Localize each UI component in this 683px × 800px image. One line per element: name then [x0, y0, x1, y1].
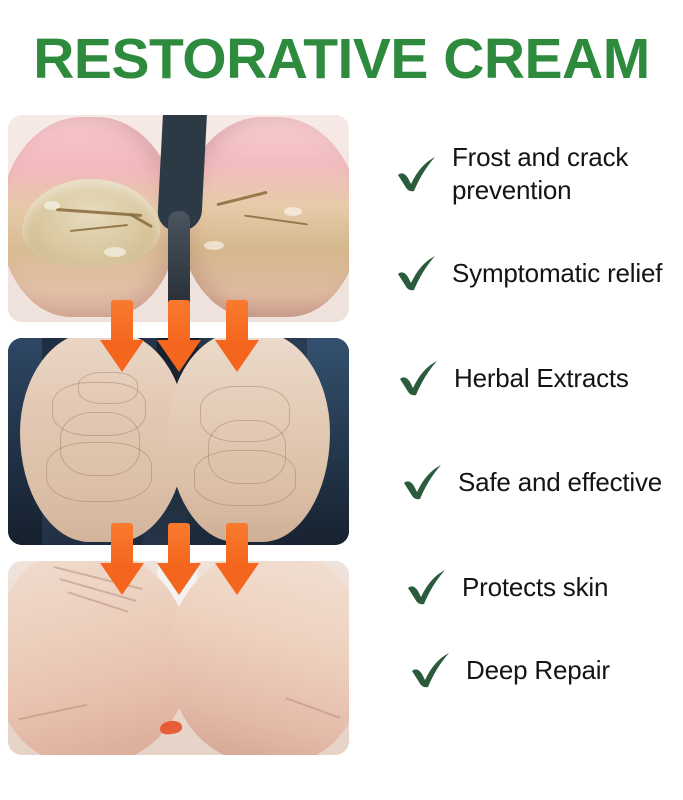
down-arrow-icon [100, 300, 144, 372]
benefits-list: Frost and crack prevention Symptomatic r… [386, 128, 683, 700]
down-arrow-icon [157, 523, 201, 595]
product-benefits-poster: RESTORATIVE CREAM [0, 0, 683, 800]
benefit-item: Deep Repair [408, 640, 683, 700]
benefit-label: Frost and crack prevention [452, 141, 683, 207]
arrow-shaft [111, 523, 133, 567]
benefit-item: Protects skin [404, 534, 683, 640]
arrow-shaft [168, 300, 190, 344]
down-arrow-icon [215, 300, 259, 372]
benefit-item: Symptomatic relief [394, 220, 683, 326]
arrow-shaft [111, 300, 133, 344]
check-mark-icon [408, 647, 454, 693]
down-arrow-icon [157, 300, 201, 372]
arrow-shaft [226, 300, 248, 344]
photo-panel-before [8, 115, 349, 322]
dry-skin-texture [78, 372, 138, 404]
dry-skin-texture [194, 450, 296, 506]
arrow-shaft [168, 523, 190, 567]
arrow-head [215, 563, 259, 595]
benefit-label: Safe and effective [458, 466, 662, 499]
transition-arrows-row-2 [8, 523, 349, 595]
heel-left [8, 117, 178, 317]
arrow-head [100, 340, 144, 372]
page-title: RESTORATIVE CREAM [0, 28, 683, 90]
benefit-label: Deep Repair [466, 654, 610, 687]
benefit-item: Frost and crack prevention [394, 128, 683, 220]
skin-flake [44, 201, 60, 210]
callus-patch-left [22, 179, 160, 267]
down-arrow-icon [100, 523, 144, 595]
arrow-head [100, 563, 144, 595]
skin-flake [284, 207, 302, 216]
check-mark-icon [400, 459, 446, 505]
arrow-head [157, 563, 201, 595]
arrow-head [157, 340, 201, 372]
check-mark-icon [396, 355, 442, 401]
benefit-label: Symptomatic relief [452, 257, 662, 290]
photo-scene-before [8, 115, 349, 322]
before-after-photo-column [8, 115, 349, 756]
down-arrow-icon [215, 523, 259, 595]
skin-flake [204, 241, 224, 250]
transition-arrows-row-1 [8, 300, 349, 372]
benefit-label: Herbal Extracts [454, 362, 629, 395]
benefit-item: Herbal Extracts [396, 326, 683, 430]
benefit-item: Safe and effective [400, 430, 683, 534]
check-mark-icon [404, 564, 450, 610]
arrow-head [215, 340, 259, 372]
benefit-label: Protects skin [462, 571, 608, 604]
skin-flake [104, 247, 126, 257]
check-mark-icon [394, 250, 440, 296]
arrow-shaft [226, 523, 248, 567]
dry-skin-texture [46, 442, 152, 502]
check-mark-icon [394, 151, 440, 197]
